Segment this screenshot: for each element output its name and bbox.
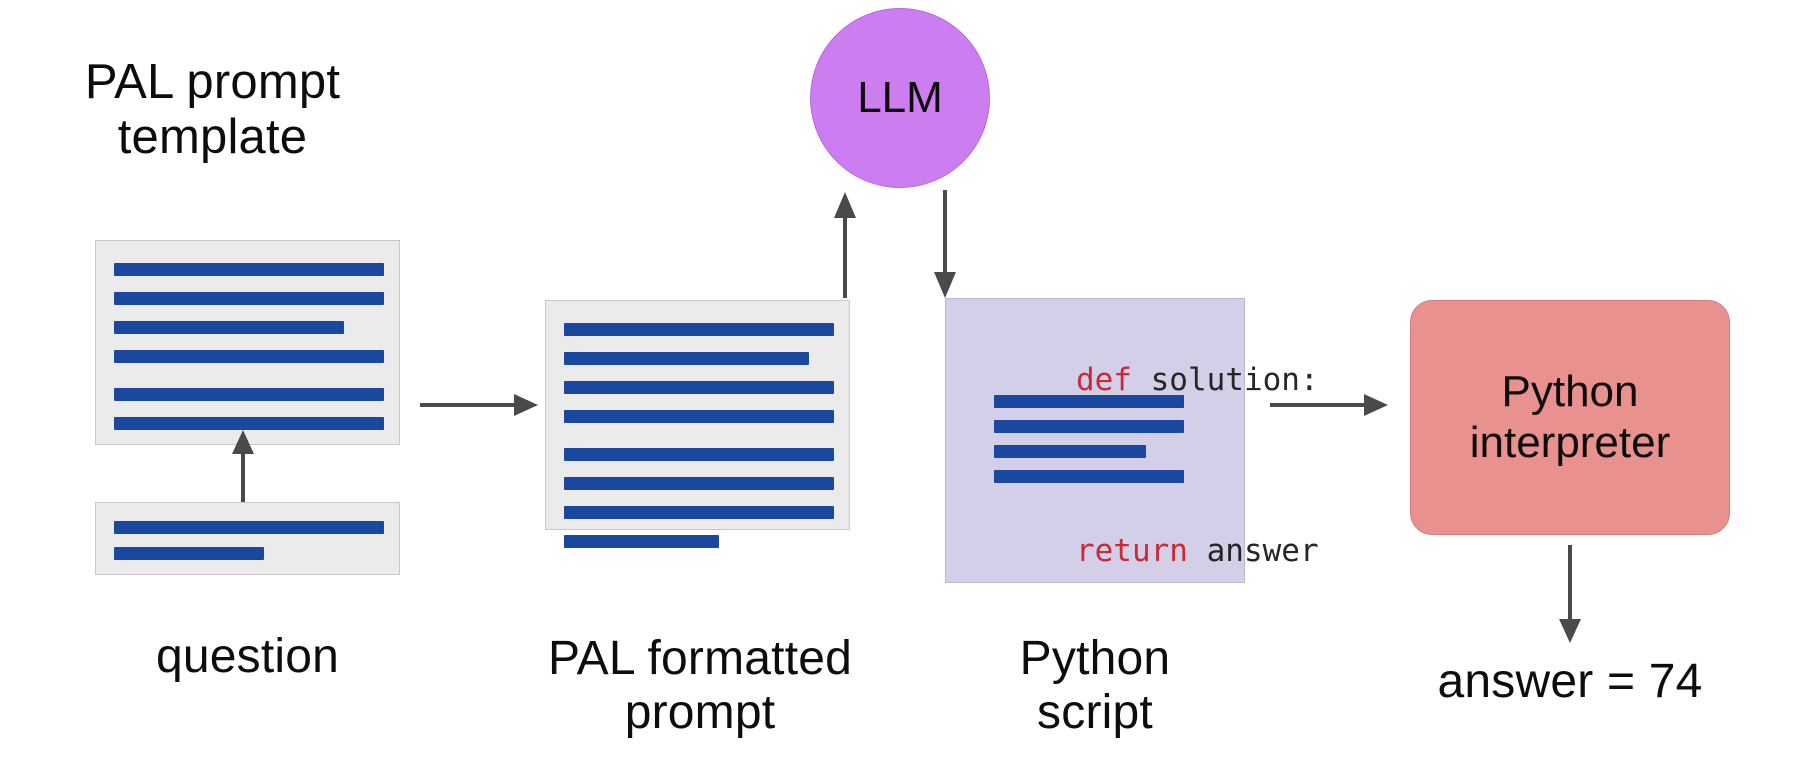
- pal-formatted-prompt-label: PAL formatted prompt: [500, 632, 900, 740]
- text-line: [114, 350, 384, 363]
- code-identifier-answer: answer: [1188, 533, 1319, 569]
- python-interpreter-label: Python interpreter: [1470, 367, 1671, 467]
- arrow-formatted-prompt-to-llm: [830, 190, 860, 300]
- pal-prompt-template-box[interactable]: [95, 240, 400, 445]
- python-script-box[interactable]: def solution: return answer: [945, 298, 1245, 583]
- code-line-def: def solution:: [964, 326, 1319, 434]
- llm-label: LLM: [857, 73, 943, 123]
- text-line: [564, 352, 809, 365]
- arrow-script-to-interpreter: [1270, 390, 1390, 420]
- text-line: [114, 547, 264, 560]
- code-line-return: return answer: [964, 497, 1319, 605]
- text-line: [564, 535, 719, 548]
- python-interpreter-box[interactable]: Python interpreter: [1410, 300, 1730, 535]
- text-line: [994, 470, 1184, 483]
- text-line: [994, 420, 1184, 433]
- arrow-interpreter-to-answer: [1555, 545, 1585, 645]
- text-line: [114, 388, 384, 401]
- text-line: [564, 323, 834, 336]
- answer-result-label: answer = 74: [1400, 655, 1740, 709]
- llm-node[interactable]: LLM: [810, 8, 990, 188]
- text-line: [564, 448, 834, 461]
- question-box[interactable]: [95, 502, 400, 575]
- pal-prompt-template-title: PAL prompt template: [40, 55, 385, 165]
- text-line: [564, 477, 834, 490]
- text-line: [114, 292, 384, 305]
- text-line: [994, 445, 1146, 458]
- text-line: [114, 263, 384, 276]
- text-line: [114, 321, 344, 334]
- question-label: question: [60, 630, 435, 684]
- text-line: [564, 381, 834, 394]
- text-line: [114, 521, 384, 534]
- arrow-llm-to-script: [930, 190, 960, 300]
- code-keyword-return: return: [1076, 533, 1188, 569]
- python-script-label: Python script: [940, 632, 1250, 740]
- text-line: [564, 410, 834, 423]
- pal-formatted-prompt-box[interactable]: [545, 300, 850, 530]
- text-line: [564, 506, 834, 519]
- arrow-template-to-formatted-prompt: [420, 390, 540, 420]
- code-keyword-def: def: [1076, 362, 1132, 398]
- diagram-canvas: PAL prompt template question PAL forma: [0, 0, 1802, 766]
- text-line: [994, 395, 1184, 408]
